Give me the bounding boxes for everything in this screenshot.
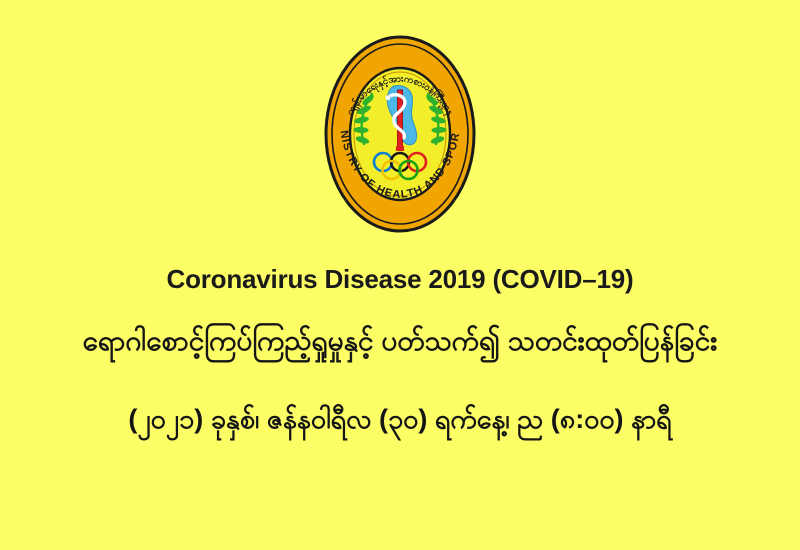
press-release-slide: ကျန်းမာရေးနှင့်အားကစားဝန်ကြီးဌာန MINISTR… (0, 0, 800, 550)
emblem-container: ကျန်းမာရေးနှင့်အားကစားဝန်ကြီးဌာန MINISTR… (0, 34, 800, 236)
title-english: Coronavirus Disease 2019 (COVID–19) (0, 262, 800, 296)
ministry-seal-icon: ကျန်းမာရေးနှင့်အားကစားဝန်ကြီးဌာန MINISTR… (324, 34, 476, 234)
datetime-burmese: (၂၀၂၁) ခုနှစ်၊ ဇန်နဝါရီလ (၃၀) ရက်နေ့၊ ည … (0, 396, 800, 442)
subtitle-burmese: ရောဂါစောင့်ကြပ်ကြည့်ရှုမှုနှင့် ပတ်သက်၍ … (0, 318, 800, 364)
text-block: Coronavirus Disease 2019 (COVID–19) ရောဂ… (0, 262, 800, 442)
